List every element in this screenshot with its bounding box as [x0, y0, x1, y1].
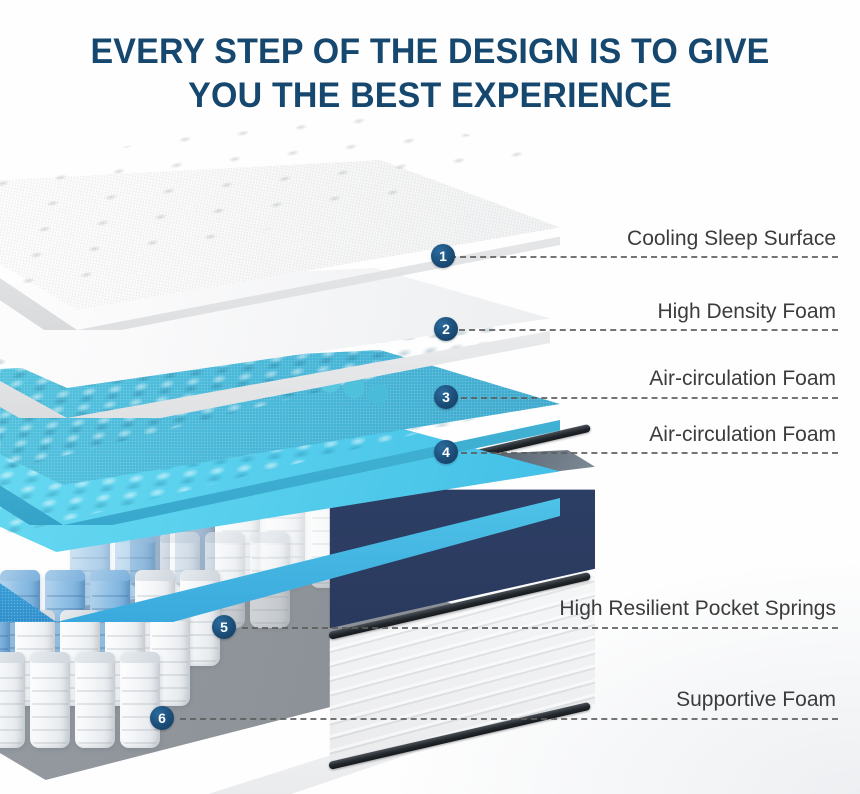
- label-cooling-sleep-surface: Cooling Sleep Surface: [627, 227, 836, 251]
- pocket-coil: [120, 652, 160, 748]
- label-high-density-foam: High Density Foam: [657, 300, 836, 324]
- leader-line-4: [461, 452, 838, 454]
- label-air-circulation-foam-lower: Air-circulation Foam: [649, 423, 836, 447]
- coil-row-front: [0, 652, 165, 748]
- leader-line-6: [180, 718, 838, 720]
- leader-line-3: [461, 397, 838, 399]
- label-high-resilient-pocket-springs: High Resilient Pocket Springs: [559, 597, 836, 621]
- infographic-canvas: EVERY STEP OF THE DESIGN IS TO GIVE YOU …: [0, 0, 860, 794]
- layer-cooling-sleep-surface: [0, 160, 560, 330]
- title-line-2: YOU THE BEST EXPERIENCE: [13, 74, 847, 118]
- badge-2: 2: [434, 317, 458, 341]
- label-air-circulation-foam-upper: Air-circulation Foam: [649, 367, 836, 391]
- leader-line-2: [459, 329, 838, 331]
- pocket-coil: [30, 652, 70, 748]
- page-title: EVERY STEP OF THE DESIGN IS TO GIVE YOU …: [0, 30, 860, 118]
- leader-line-5: [242, 627, 838, 629]
- pocket-coil: [75, 652, 115, 748]
- title-line-1: EVERY STEP OF THE DESIGN IS TO GIVE: [13, 30, 847, 74]
- badge-5: 5: [212, 615, 236, 639]
- badge-4: 4: [434, 440, 458, 464]
- label-supportive-foam: Supportive Foam: [676, 688, 836, 712]
- badge-6: 6: [150, 706, 174, 730]
- badge-1: 1: [431, 244, 455, 268]
- pocket-coil: [0, 652, 25, 748]
- badge-3: 3: [434, 385, 458, 409]
- leader-line-1: [450, 256, 838, 258]
